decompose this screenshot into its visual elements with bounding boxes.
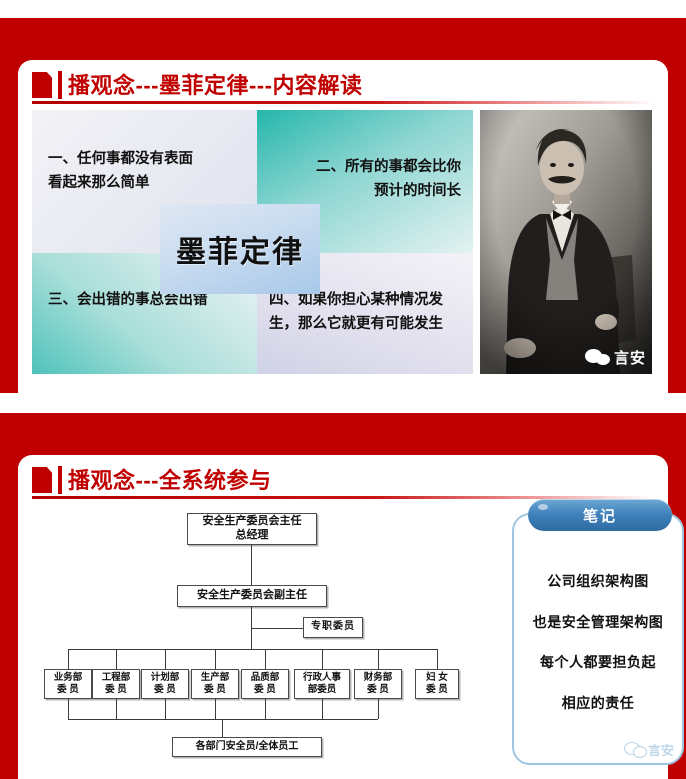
connector-dept-drop <box>165 649 166 669</box>
notes-line: 相应的责任 <box>562 693 635 713</box>
org-node-department: 行政人事 部委员 <box>294 669 350 699</box>
connector-dept-riser <box>68 699 69 719</box>
page-title: 播观念---全系统参与 <box>68 463 271 495</box>
connector-dept-riser <box>116 699 117 719</box>
org-node-level1: 安全生产委员会主任 总经理 <box>187 513 317 545</box>
page-title: 播观念---墨菲定律---内容解读 <box>68 68 362 100</box>
org-node-department: 品质部 委 员 <box>241 669 289 699</box>
connector-dept-riser <box>165 699 166 719</box>
slide-org-chart: 播观念---全系统参与 安全生产委员会主任 总经理 安全生产委员会副主任 专职委… <box>0 413 686 779</box>
header-rule <box>32 101 654 104</box>
portrait-illustration <box>480 110 652 374</box>
connector-dept-riser <box>378 699 379 719</box>
connector-dept-drop <box>437 649 438 669</box>
connector-dept-riser <box>265 699 266 719</box>
slide-2-card: 播观念---全系统参与 安全生产委员会主任 总经理 安全生产委员会副主任 专职委… <box>18 455 668 779</box>
connector-dept-drop <box>68 649 69 669</box>
quadrant-one-text: 一、任何事都没有表面 看起来那么简单 <box>48 148 193 196</box>
org-chart: 安全生产委员会主任 总经理 安全生产委员会副主任 专职委员 <box>32 507 502 769</box>
connector-dept-drop <box>215 649 216 669</box>
slide-deck-page: 播观念---墨菲定律---内容解读 一、任何事都没有表面 看起来那么简单 二、所… <box>0 0 686 779</box>
portrait-photo: 言安 <box>480 110 652 374</box>
header-accent-bar <box>58 71 62 99</box>
quadrant-two-text: 二、所有的事都会比你 预计的时间长 <box>271 156 461 204</box>
connector-dept-riser <box>215 699 216 719</box>
notes-line: 也是安全管理架构图 <box>533 612 664 632</box>
header-accent-bar <box>58 466 62 494</box>
slide-1-card: 播观念---墨菲定律---内容解读 一、任何事都没有表面 看起来那么简单 二、所… <box>18 60 668 393</box>
watermark-text: 言安 <box>614 347 646 368</box>
page-mark-icon <box>32 72 52 98</box>
watermark: 言安 <box>624 740 674 759</box>
wechat-icon <box>624 742 646 757</box>
org-node-department: 工程部 委 员 <box>92 669 140 699</box>
org-node-department: 计划部 委 员 <box>141 669 189 699</box>
connector-bottom-drop <box>222 719 223 737</box>
connector-aside <box>251 628 303 629</box>
org-node-department: 妇 女 委 员 <box>415 669 459 699</box>
center-title-text: 墨菲定律 <box>176 227 304 271</box>
connector-department-bus <box>68 649 437 650</box>
connector-dept-drop <box>265 649 266 669</box>
slide-2-header: 播观念---全系统参与 <box>18 455 668 501</box>
page-mark-icon <box>32 467 52 493</box>
murphy-quadrant-grid: 一、任何事都没有表面 看起来那么简单 二、所有的事都会比你 预计的时间长 三、会… <box>32 110 473 374</box>
notes-title-badge: 笔记 <box>528 499 672 531</box>
org-node-level2: 安全生产委员会副主任 <box>177 585 327 607</box>
connector-dept-drop <box>322 649 323 669</box>
notes-title-text: 笔记 <box>583 505 617 526</box>
org-node-department: 财务部 委 员 <box>354 669 402 699</box>
center-title-badge: 墨菲定律 <box>160 204 320 294</box>
watermark-text: 言安 <box>648 740 674 759</box>
connector-dept-riser <box>322 699 323 719</box>
connector-bottom-bus <box>68 719 378 720</box>
connector-l1-l2 <box>251 545 252 585</box>
org-node-department: 业务部 委 员 <box>44 669 92 699</box>
slide-1-header: 播观念---墨菲定律---内容解读 <box>18 60 668 106</box>
slide-murphy-law: 播观念---墨菲定律---内容解读 一、任何事都没有表面 看起来那么简单 二、所… <box>0 18 686 393</box>
notes-line: 每个人都要担负起 <box>540 652 656 672</box>
quadrant-four-text: 四、如果你担心某种情况发 生，那么它就更有可能发生 <box>269 289 443 337</box>
org-node-bottom: 各部门安全员/全体员工 <box>172 737 322 757</box>
connector-dept-drop <box>378 649 379 669</box>
wechat-icon <box>585 349 611 366</box>
notes-body: 公司组织架构图 也是安全管理架构图 每个人都要担负起 相应的责任 <box>522 551 674 733</box>
badge-gloss-icon <box>538 504 548 510</box>
org-node-department: 生产部 委 员 <box>191 669 239 699</box>
org-node-aside: 专职委员 <box>303 617 363 638</box>
notes-panel: 笔记 公司组织架构图 也是安全管理架构图 每个人都要担负起 相应的责任 言安 <box>512 513 684 765</box>
watermark: 言安 <box>585 347 646 368</box>
notes-line: 公司组织架构图 <box>547 571 649 591</box>
connector-dept-drop <box>116 649 117 669</box>
